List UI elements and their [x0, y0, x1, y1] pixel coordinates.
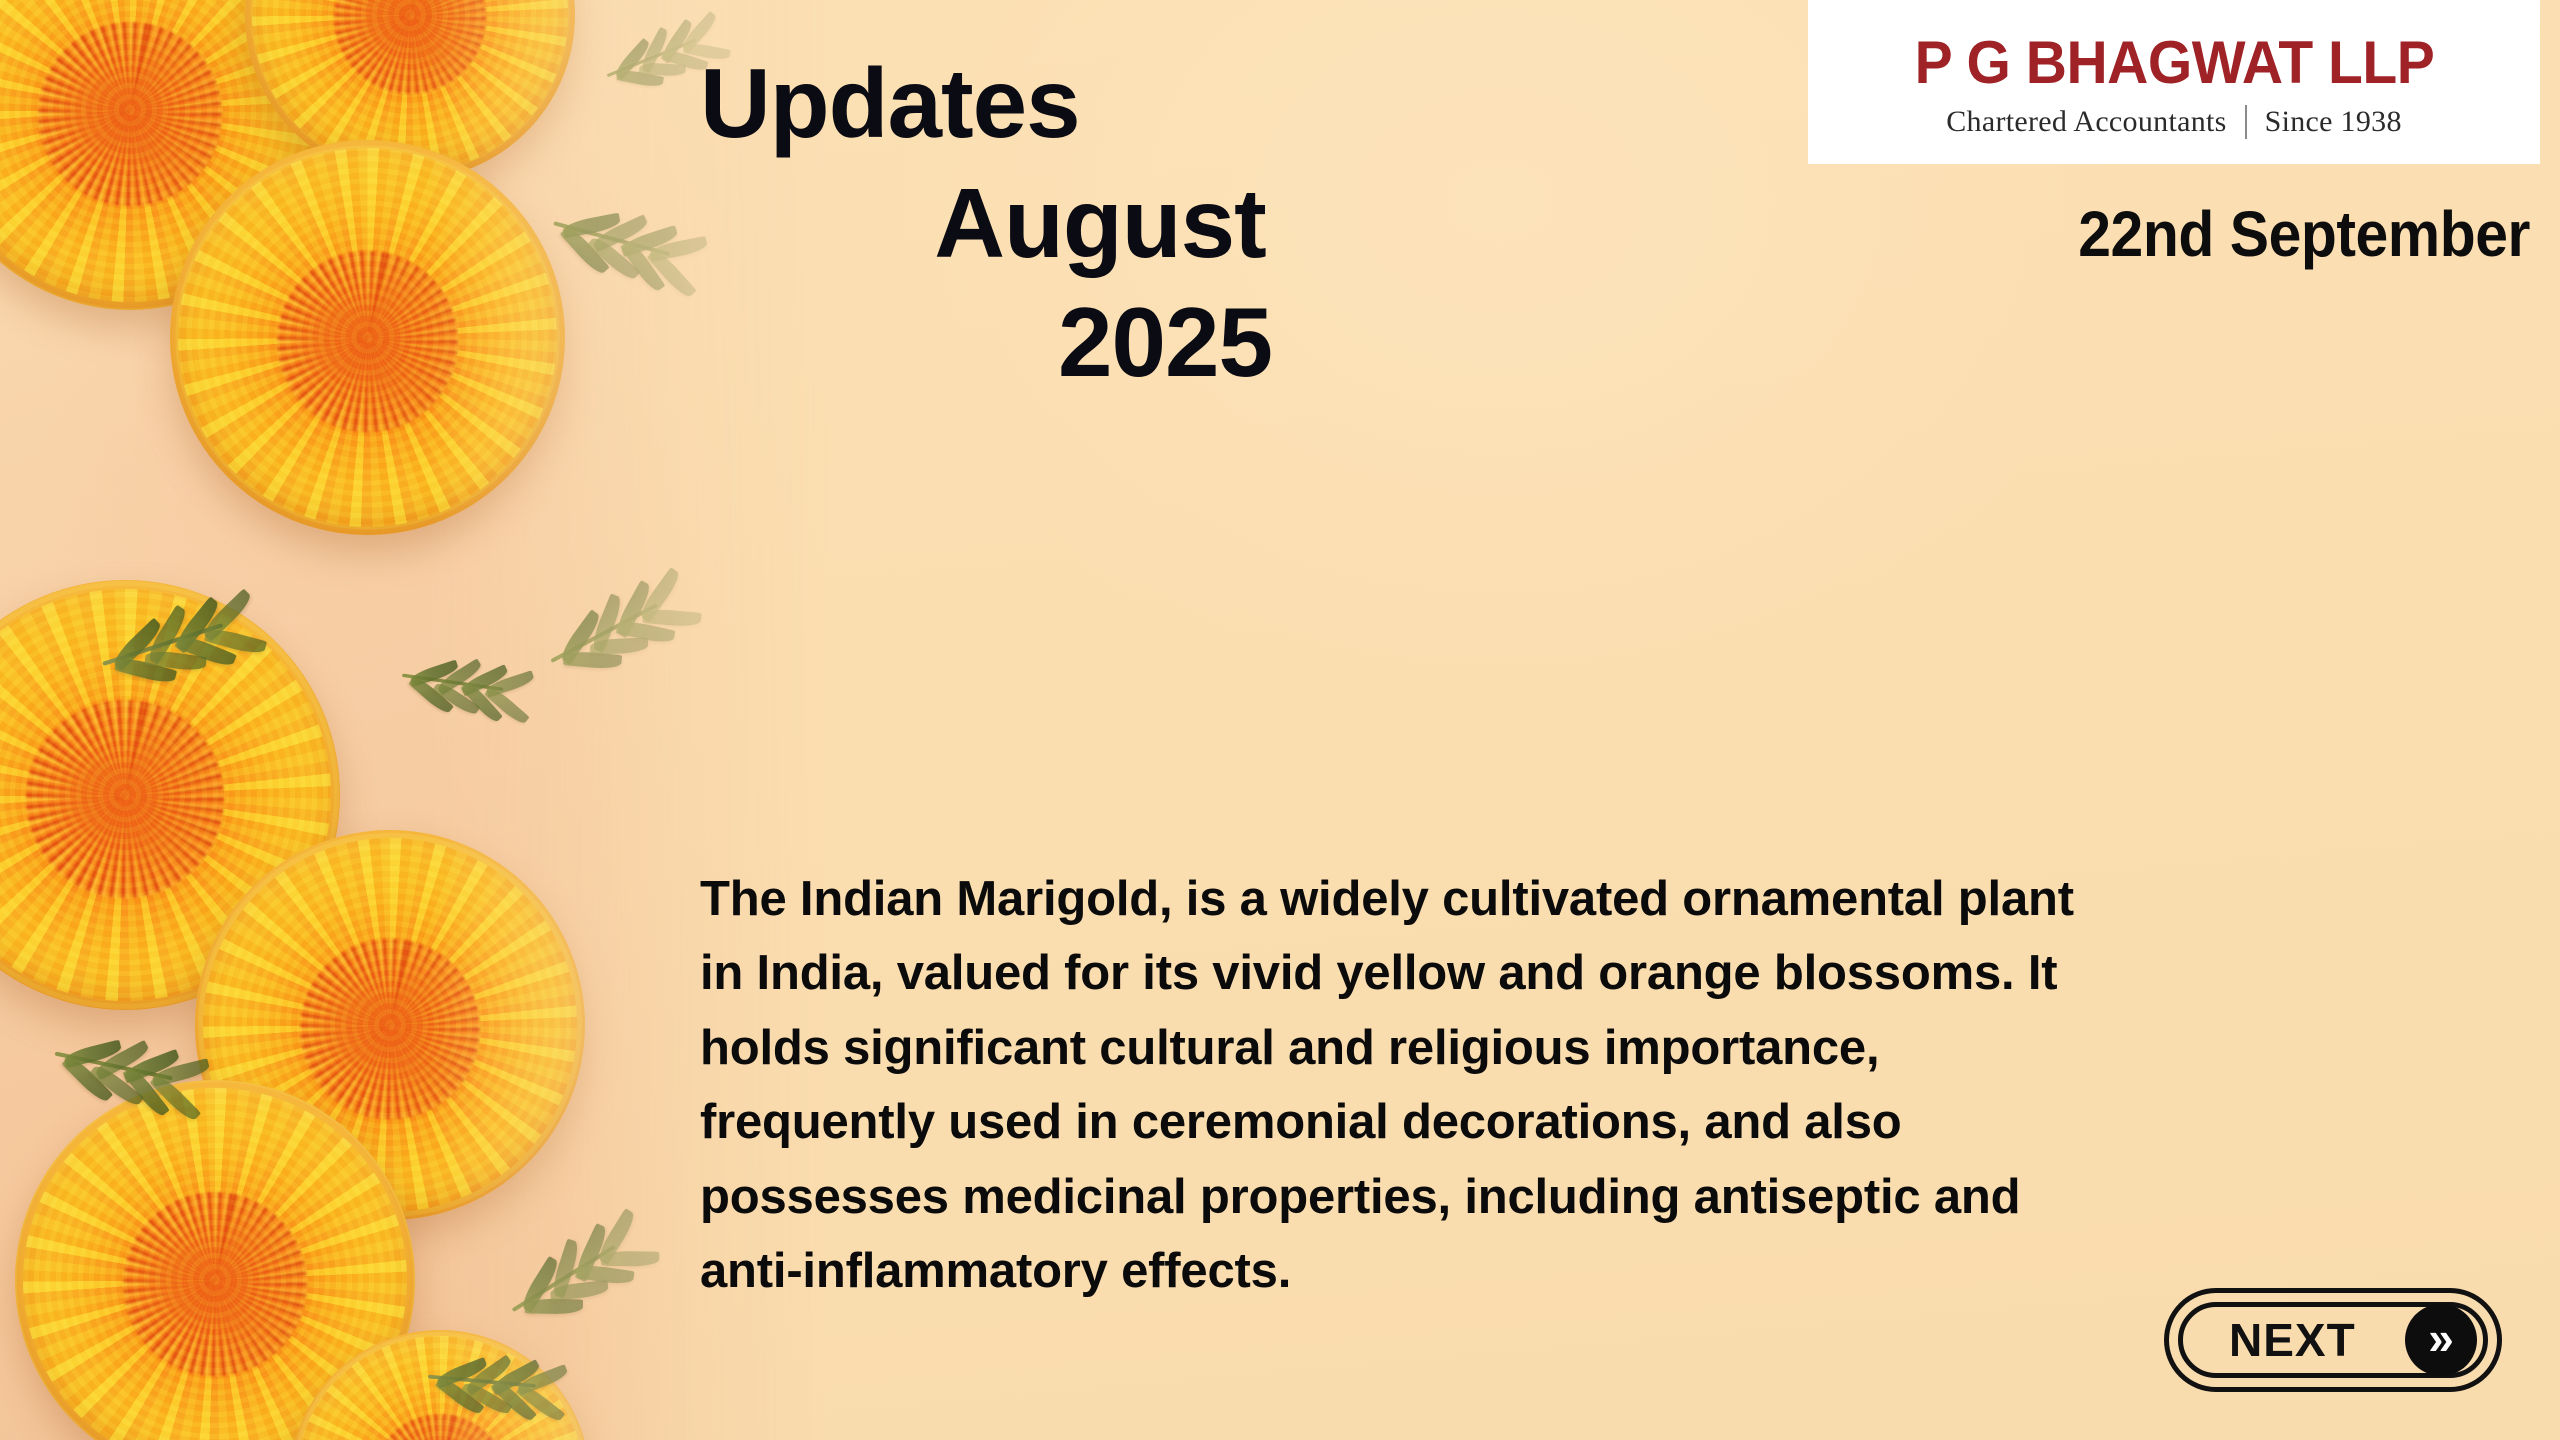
- firm-name: P G BHAGWAT LLP: [1914, 33, 2434, 93]
- marigold-bloom: [170, 140, 565, 535]
- firm-tagline: Chartered Accountants Since 1938: [1946, 105, 2402, 139]
- next-button-inner-ring: NEXT »: [2178, 1302, 2488, 1378]
- leaflet: [525, 1298, 583, 1314]
- title-block: Updates August 2025: [700, 44, 1500, 403]
- marigold-bloom-core: [371, 1414, 509, 1440]
- next-button-circle: »: [2405, 1304, 2477, 1376]
- marigold-bloom-core: [26, 700, 224, 898]
- title-line-year: 2025: [700, 283, 1500, 403]
- marigold-bloom-core: [277, 251, 459, 433]
- presentation-slide: Updates August 2025 P G BHAGWAT LLP Char…: [0, 0, 2560, 1440]
- title-line-month: August: [700, 164, 1500, 284]
- marigold-bloom-core: [123, 1192, 307, 1376]
- body-paragraph: The Indian Marigold, is a widely cultiva…: [700, 862, 2090, 1309]
- tagline-divider-icon: [2245, 105, 2247, 139]
- next-button[interactable]: NEXT »: [2164, 1288, 2502, 1392]
- marigold-bloom-core: [300, 939, 479, 1118]
- firm-logo-card: P G BHAGWAT LLP Chartered Accountants Si…: [1808, 0, 2540, 164]
- firm-since: Since 1938: [2265, 105, 2402, 139]
- next-button-label: NEXT: [2229, 1313, 2356, 1367]
- leaflet: [601, 1251, 659, 1267]
- marigold-bloom-core: [38, 22, 222, 206]
- slide-date: 22nd September: [2078, 202, 2530, 266]
- title-line-updates: Updates: [700, 44, 1500, 164]
- firm-qualification: Chartered Accountants: [1946, 105, 2226, 139]
- marigold-bloom-core: [334, 0, 486, 94]
- double-chevron-right-icon: »: [2428, 1315, 2454, 1361]
